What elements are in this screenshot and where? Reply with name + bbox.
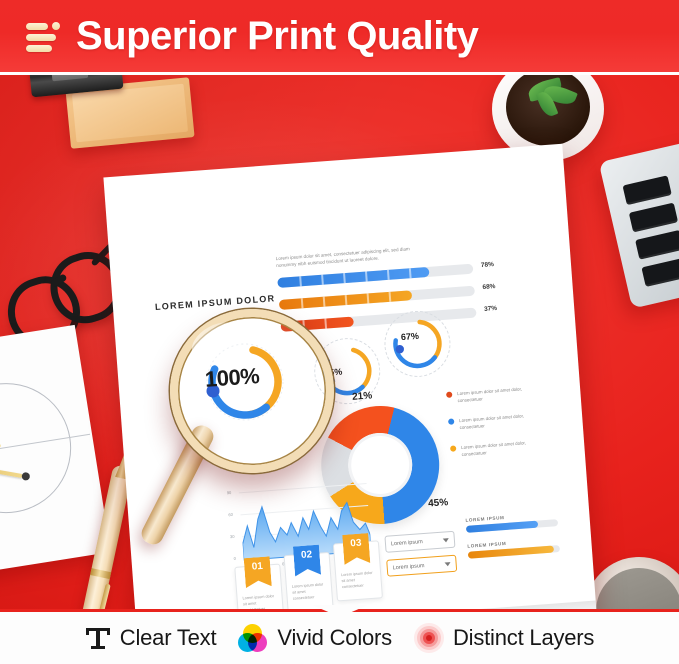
card-number: 01 (251, 561, 263, 573)
feature-bar: Clear Text Vivid Colors Distinct Layers (0, 612, 679, 664)
bar-percent: 68% (482, 283, 495, 291)
legend-item: Lorem ipsum dolor sit amet dolor, consec… (448, 411, 541, 432)
bar-percent: 78% (481, 261, 494, 269)
y-tick: 0 (233, 556, 236, 561)
chevron-down-icon (444, 562, 450, 566)
card-number: 02 (301, 549, 313, 561)
list-item[interactable]: 01 Lorem ipsum dolor sit amet consectetu… (234, 564, 284, 612)
dropdown-value: Lorem ipsum (391, 539, 423, 547)
legend-item: Lorem ipsum dolor sit amet dolor, consec… (446, 384, 539, 405)
legend-label: Lorem ipsum dolor sit amet dolor, consec… (459, 411, 541, 431)
feature-label: Distinct Layers (453, 625, 594, 651)
feature-vivid-colors: Vivid Colors (238, 624, 392, 652)
bar-percent: 37% (484, 305, 497, 313)
progress-bar-item: LOREM IPSUM (465, 511, 558, 533)
card-number: 03 (350, 538, 362, 550)
dropdown-value: Lorem ipsum (393, 563, 425, 571)
progress-bar-item: LOREM IPSUM (467, 537, 560, 559)
list-item[interactable]: 03 Lorem ipsum dolor sit amet consectetu… (333, 540, 383, 601)
concentric-layers-icon (414, 623, 444, 653)
feature-distinct-layers: Distinct Layers (414, 623, 594, 653)
page-title: Superior Print Quality (76, 16, 478, 56)
y-tick: 60 (228, 512, 233, 517)
card-text: Lorem ipsum dolor sit amet consectetuer (341, 570, 376, 591)
dropdown-select[interactable]: Lorem ipsum (384, 531, 455, 553)
gauge-main-label: 100% (204, 363, 260, 393)
card-text: Lorem ipsum dolor sit amet consectetuer (292, 581, 327, 602)
legend-item: Lorem ipsum dolor sit amet dolor, consec… (450, 438, 543, 459)
donut-label-21: 21% (352, 390, 373, 402)
donut-label-45: 45% (428, 497, 449, 509)
desk-photo-scene: LOREM IPSUM DOLOR Lorem ipsum dolor sit … (0, 75, 679, 612)
list-item[interactable]: 02 Lorem ipsum dolor sit amet consectetu… (284, 552, 334, 612)
chevron-down-icon (443, 538, 449, 542)
cmyk-circles-icon (238, 624, 268, 652)
feature-label: Clear Text (120, 625, 217, 651)
layers-bars-icon (24, 17, 64, 57)
header-banner: Superior Print Quality (0, 0, 679, 72)
feature-label: Vivid Colors (277, 625, 392, 651)
gauge-label: 67% (401, 331, 420, 342)
legend-label: Lorem ipsum dolor sit amet dolor, consec… (457, 384, 539, 404)
y-tick: 90 (227, 490, 232, 495)
y-tick: 30 (230, 534, 235, 539)
product-feature-banner: Superior Print Quality (0, 0, 679, 664)
intro-text: Lorem ipsum dolor sit amet, consectetuer… (276, 244, 427, 269)
gauge-67: 67% (386, 313, 448, 375)
donut-legend: Lorem ipsum dolor sit amet dolor, consec… (446, 384, 544, 472)
text-t-icon (85, 625, 111, 651)
feature-clear-text: Clear Text (85, 625, 217, 651)
legend-label: Lorem ipsum dolor sit amet dolor, consec… (461, 438, 543, 458)
dropdown-select[interactable]: Lorem ipsum (386, 555, 457, 577)
